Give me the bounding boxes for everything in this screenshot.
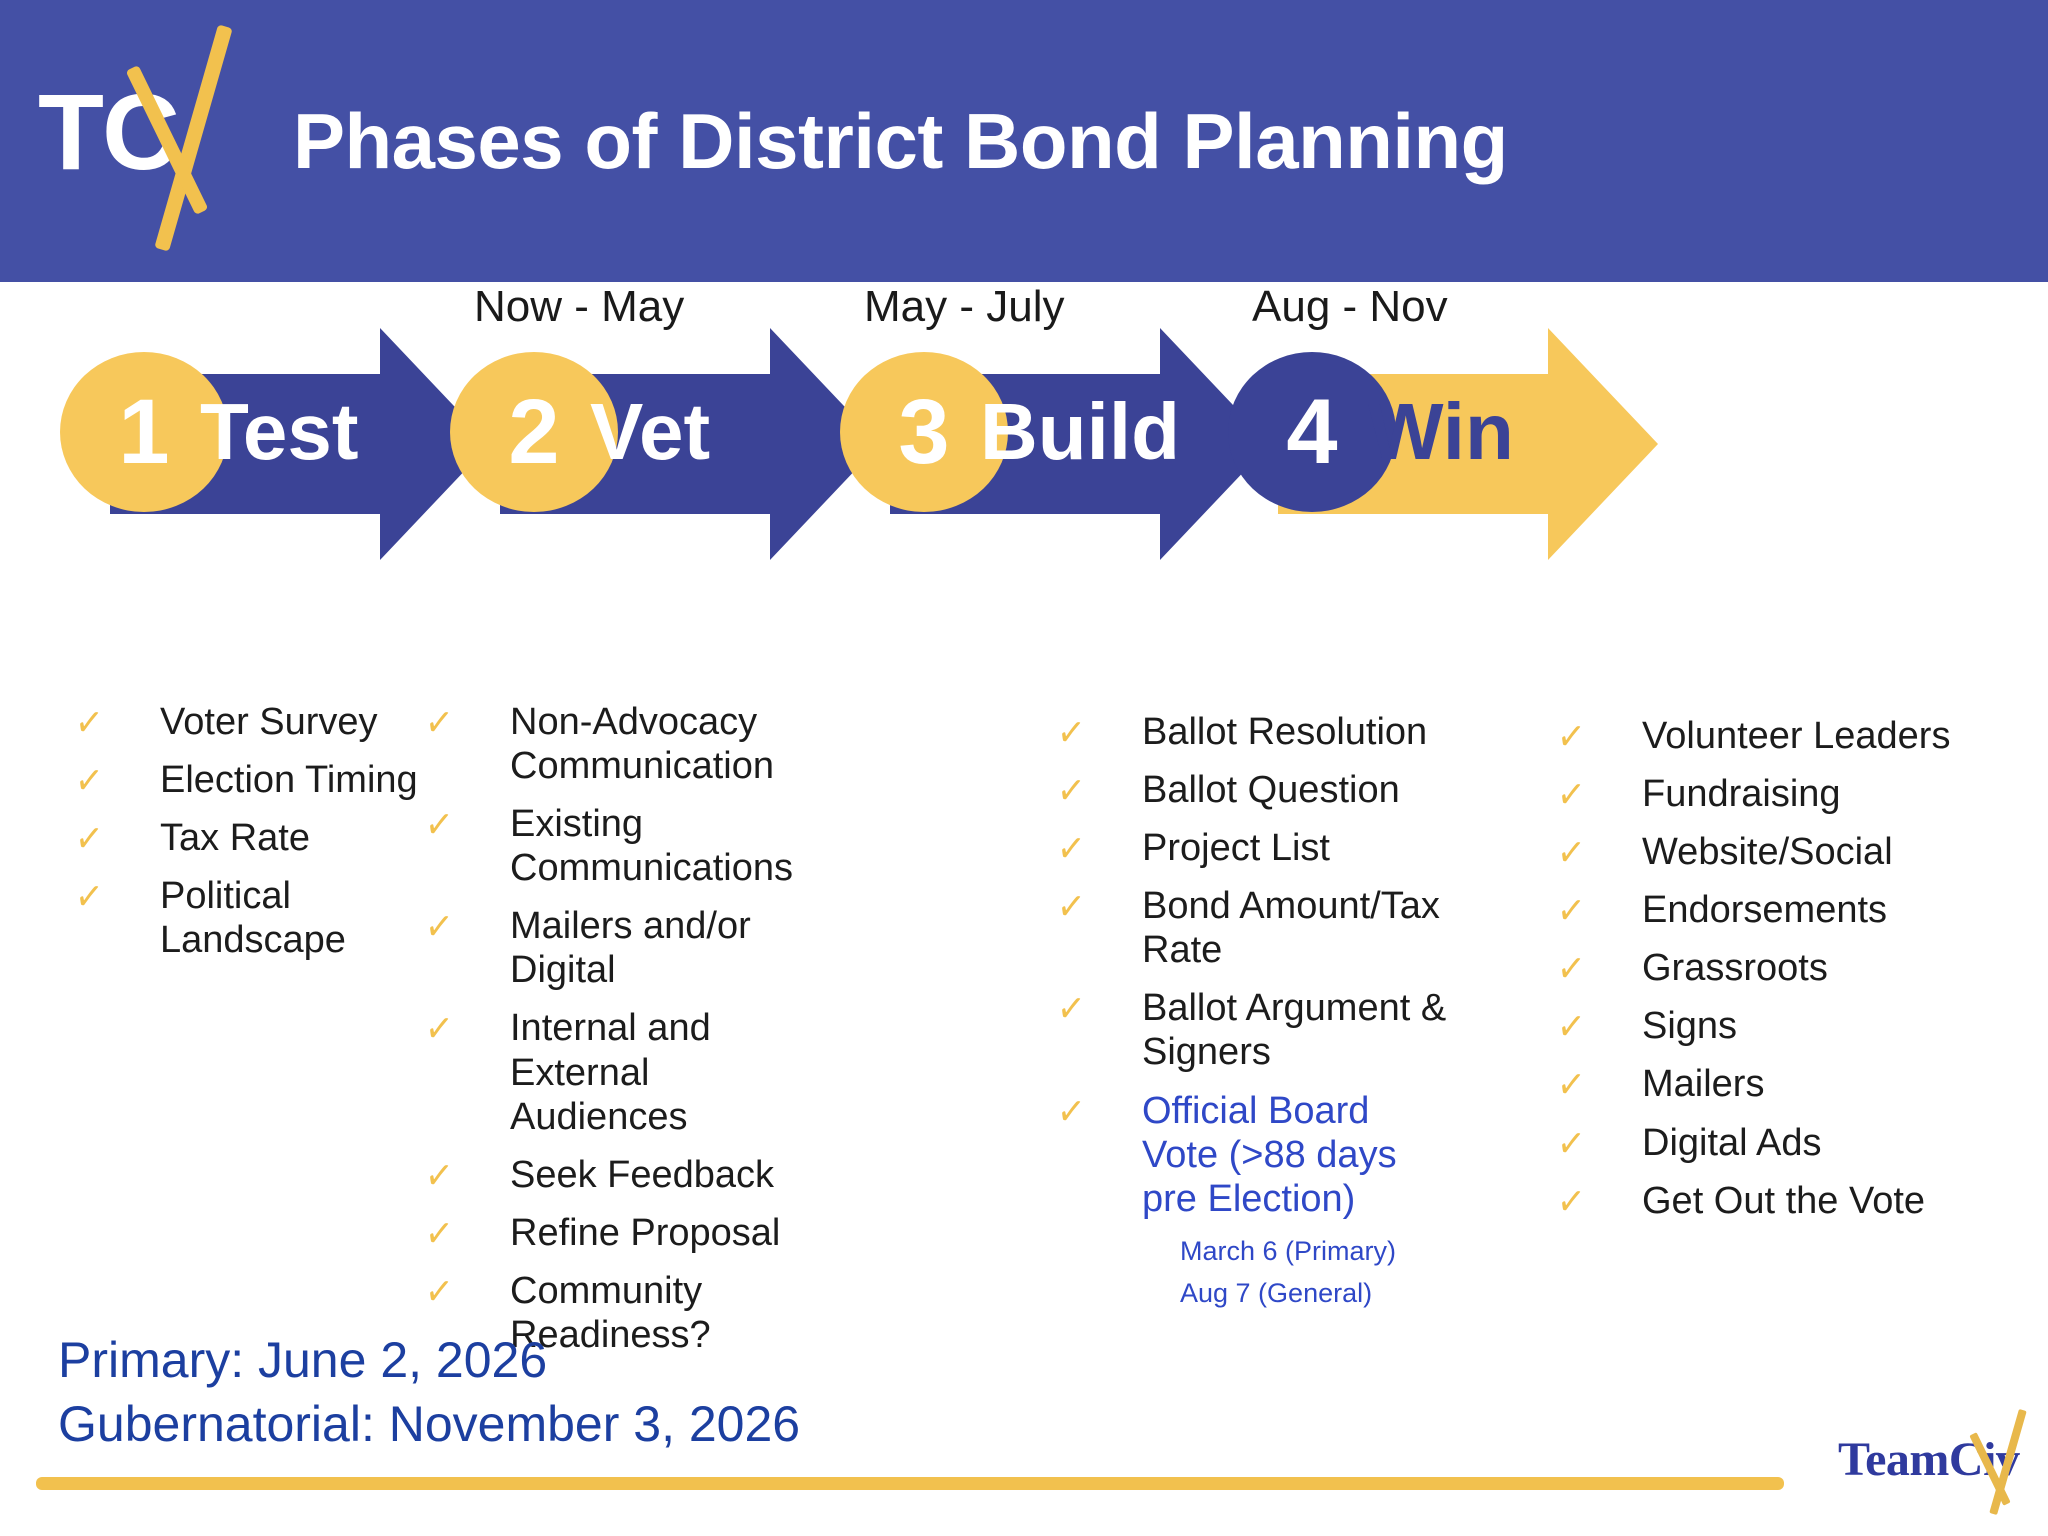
check-icon: ✓ (73, 700, 109, 748)
check-icon: ✓ (1555, 1121, 1591, 1169)
list-item[interactable]: ✓ Project List (1060, 826, 1450, 870)
teamcivx-logo-x-icon (1976, 1408, 2028, 1516)
list-item[interactable]: ✓ Bond Amount/Tax Rate (1060, 884, 1450, 972)
list-item-label: Tax Rate (160, 816, 310, 860)
list-item[interactable]: ✓ Tax Rate (78, 816, 438, 860)
check-icon: ✓ (1555, 772, 1591, 820)
list-item[interactable]: ✓ Internal and External Audiences (428, 1006, 818, 1138)
list-item[interactable]: ✓ Seek Feedback (428, 1153, 818, 1197)
list-item-label: Signs (1642, 1004, 1737, 1048)
list-item[interactable]: ✓ Non-Advocacy Communication (428, 700, 818, 788)
phase-3-range: May - July (864, 282, 1064, 332)
check-icon: ✓ (1555, 714, 1591, 762)
list-item[interactable]: ✓ Voter Survey (78, 700, 438, 744)
check-icon: ✓ (423, 1269, 459, 1317)
list-item[interactable]: ✓ Volunteer Leaders (1560, 714, 1980, 758)
primary-date: Primary: June 2, 2026 (58, 1328, 800, 1392)
check-icon: ✓ (73, 816, 109, 864)
footer-election-dates: Primary: June 2, 2026 Gubernatorial: Nov… (58, 1328, 800, 1456)
list-item-label: Fundraising (1642, 772, 1841, 816)
gubernatorial-date: Gubernatorial: November 3, 2026 (58, 1392, 800, 1456)
list-item[interactable]: ✓ Get Out the Vote (1560, 1179, 1980, 1223)
list-item-label: Ballot Resolution (1142, 710, 1427, 754)
check-icon: ✓ (1555, 1004, 1591, 1052)
check-icon: ✓ (423, 1153, 459, 1201)
check-icon: ✓ (1055, 884, 1091, 932)
list-item[interactable]: ✓ Mailers and/or Digital (428, 904, 818, 992)
phase-4-label: Win (1368, 358, 1668, 506)
list-item[interactable]: ✓ Signs (1560, 1004, 1980, 1048)
list-item-label: Election Timing (160, 758, 418, 802)
page-title: Phases of District Bond Planning (293, 96, 1508, 187)
list-item-label: Internal and External Audiences (510, 1006, 818, 1138)
check-icon: ✓ (1555, 830, 1591, 878)
check-icon: ✓ (1555, 1062, 1591, 1110)
checklist-column-1: ✓ Voter Survey ✓ Election Timing ✓ Tax R… (78, 700, 438, 976)
check-icon: ✓ (1055, 710, 1091, 758)
list-item-label: Endorsements (1642, 888, 1887, 932)
list-item-label: Official Board Vote (>88 days pre Electi… (1142, 1089, 1450, 1221)
check-icon: ✓ (423, 1006, 459, 1054)
list-item[interactable]: ✓ Ballot Resolution (1060, 710, 1450, 754)
phase-4-range: Aug - Nov (1252, 282, 1448, 332)
list-item[interactable]: ✓ Ballot Question (1060, 768, 1450, 812)
slide-root: TC Phases of District Bond Planning 1 Te… (0, 0, 2048, 1536)
note-primary-date: March 6 (Primary) (1180, 1235, 1450, 1267)
phase-4[interactable]: Aug - Nov 4 Win (1200, 282, 1670, 582)
list-item[interactable]: ✓ Fundraising (1560, 772, 1980, 816)
list-item[interactable]: ✓ Official Board Vote (>88 days pre Elec… (1060, 1089, 1450, 1221)
check-icon: ✓ (73, 874, 109, 922)
teamcivx-logo: TeamCiv (1838, 1412, 2028, 1516)
list-item-label: Voter Survey (160, 700, 378, 744)
list-item[interactable]: ✓ Grassroots (1560, 946, 1980, 990)
list-item-label: Ballot Question (1142, 768, 1400, 812)
phase-2-range: Now - May (474, 282, 684, 332)
list-item-label: Ballot Argument & Signers (1142, 986, 1450, 1074)
check-icon: ✓ (1055, 1089, 1091, 1137)
tcx-logo-x-icon (140, 22, 240, 254)
check-icon: ✓ (1555, 888, 1591, 936)
list-item-label: Existing Communications (510, 802, 818, 890)
check-icon: ✓ (1055, 826, 1091, 874)
list-item-label: Volunteer Leaders (1642, 714, 1950, 758)
list-item-label: Mailers (1642, 1062, 1764, 1106)
checklist-column-3: ✓ Ballot Resolution ✓ Ballot Question ✓ … (1060, 710, 1450, 1310)
list-item[interactable]: ✓ Website/Social (1560, 830, 1980, 874)
check-icon: ✓ (1555, 946, 1591, 994)
list-item-label: Mailers and/or Digital (510, 904, 818, 992)
footer-divider (36, 1477, 1784, 1490)
list-item[interactable]: ✓ Endorsements (1560, 888, 1980, 932)
tcx-logo: TC (28, 26, 233, 256)
phase-arrow-row: 1 Test Now - May 2 Vet May - July 3 Buil (0, 282, 2048, 702)
list-item-label: Non-Advocacy Communication (510, 700, 818, 788)
list-item[interactable]: ✓ Election Timing (78, 758, 438, 802)
check-icon: ✓ (1055, 986, 1091, 1034)
check-icon: ✓ (423, 700, 459, 748)
check-icon: ✓ (1555, 1179, 1591, 1227)
list-item-label: Website/Social (1642, 830, 1893, 874)
checklist-column-4: ✓ Volunteer Leaders ✓ Fundraising ✓ Webs… (1560, 714, 1980, 1237)
checklist-column-2: ✓ Non-Advocacy Communication ✓ Existing … (428, 700, 818, 1371)
check-icon: ✓ (423, 904, 459, 952)
list-item[interactable]: ✓ Mailers (1560, 1062, 1980, 1106)
list-item-label: Political Landscape (160, 874, 438, 962)
check-icon: ✓ (1055, 768, 1091, 816)
list-item[interactable]: ✓ Refine Proposal (428, 1211, 818, 1255)
list-item[interactable]: ✓ Ballot Argument & Signers (1060, 986, 1450, 1074)
list-item-label: Digital Ads (1642, 1121, 1822, 1165)
list-item-label: Refine Proposal (510, 1211, 780, 1255)
list-item[interactable]: ✓ Existing Communications (428, 802, 818, 890)
list-item[interactable]: ✓ Digital Ads (1560, 1121, 1980, 1165)
checklist-columns: ✓ Voter Survey ✓ Election Timing ✓ Tax R… (0, 700, 2048, 1260)
check-icon: ✓ (73, 758, 109, 806)
list-item-label: Bond Amount/Tax Rate (1142, 884, 1450, 972)
list-item[interactable]: ✓ Political Landscape (78, 874, 438, 962)
check-icon: ✓ (423, 802, 459, 850)
note-general-date: Aug 7 (General) (1180, 1277, 1450, 1309)
list-item-label: Seek Feedback (510, 1153, 774, 1197)
check-icon: ✓ (423, 1211, 459, 1259)
slide-header: TC Phases of District Bond Planning (0, 0, 2048, 282)
list-item-label: Get Out the Vote (1642, 1179, 1925, 1223)
list-item-label: Grassroots (1642, 946, 1828, 990)
list-item-label: Project List (1142, 826, 1330, 870)
